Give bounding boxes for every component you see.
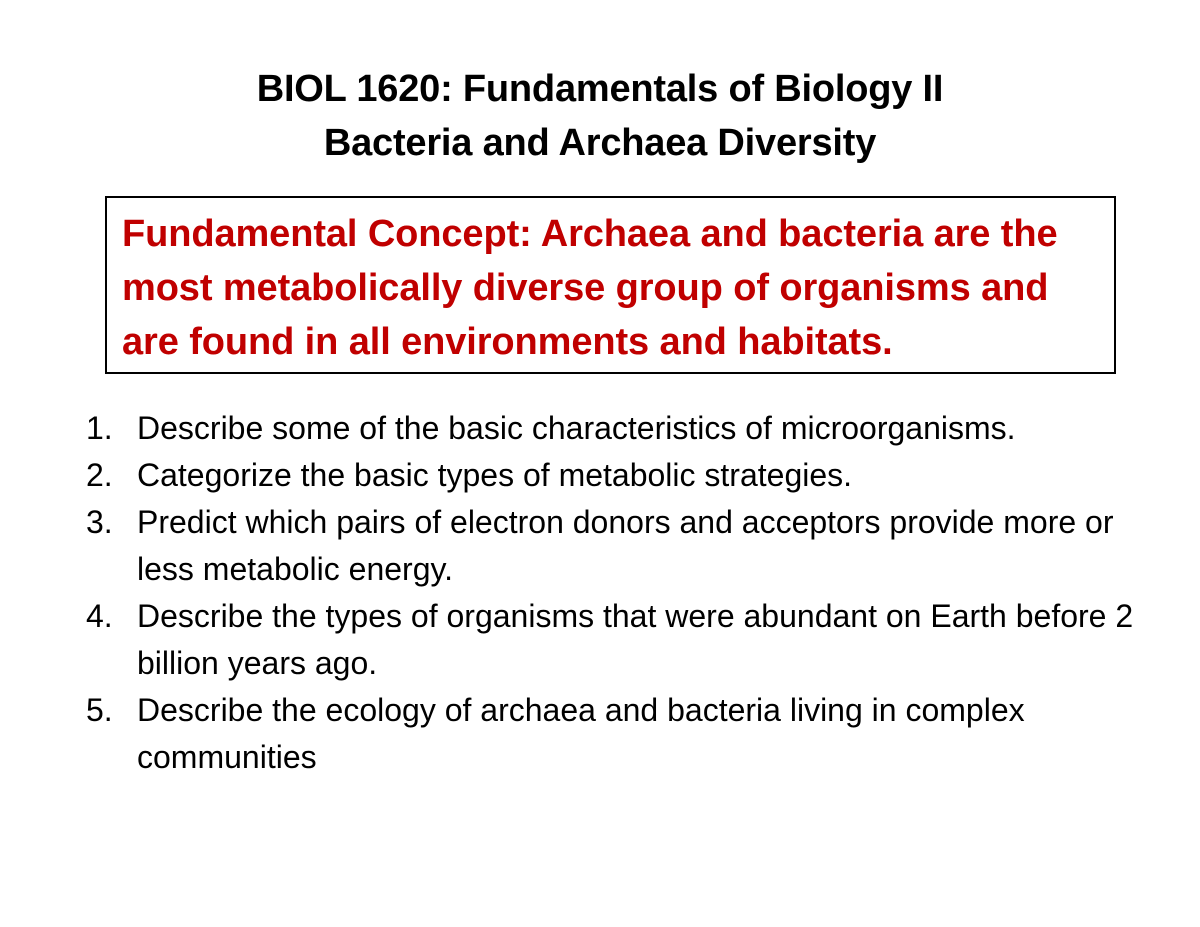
list-item: 1. Describe some of the basic characteri…: [86, 405, 1146, 452]
list-item: 3. Predict which pairs of electron donor…: [86, 499, 1146, 593]
list-item-text: Predict which pairs of electron donors a…: [137, 499, 1146, 593]
list-item-text: Describe the types of organisms that wer…: [137, 593, 1146, 687]
list-item-text: Categorize the basic types of metabolic …: [137, 452, 1146, 499]
list-item: 2. Categorize the basic types of metabol…: [86, 452, 1146, 499]
list-item-text: Describe some of the basic characteristi…: [137, 405, 1146, 452]
list-item-number: 1.: [86, 405, 137, 452]
slide-canvas: BIOL 1620: Fundamentals of Biology II Ba…: [0, 0, 1200, 927]
list-item-number: 5.: [86, 687, 137, 734]
list-item-number: 4.: [86, 593, 137, 640]
concept-line-2: most metabolically diverse group of orga…: [122, 261, 1104, 315]
title-line-1: BIOL 1620: Fundamentals of Biology II: [0, 62, 1200, 116]
fundamental-concept-box: Fundamental Concept: Archaea and bacteri…: [105, 196, 1116, 374]
list-item-text: Describe the ecology of archaea and bact…: [137, 687, 1146, 781]
page-title: BIOL 1620: Fundamentals of Biology II Ba…: [0, 62, 1200, 170]
list-item: 4. Describe the types of organisms that …: [86, 593, 1146, 687]
learning-objectives-list: 1. Describe some of the basic characteri…: [86, 405, 1146, 781]
concept-line-1: Fundamental Concept: Archaea and bacteri…: [122, 207, 1104, 261]
list-item: 5. Describe the ecology of archaea and b…: [86, 687, 1146, 781]
list-item-number: 3.: [86, 499, 137, 546]
title-line-2: Bacteria and Archaea Diversity: [0, 116, 1200, 170]
list-item-number: 2.: [86, 452, 137, 499]
concept-line-3: are found in all environments and habita…: [122, 315, 1104, 369]
fundamental-concept-text: Fundamental Concept: Archaea and bacteri…: [122, 207, 1104, 369]
